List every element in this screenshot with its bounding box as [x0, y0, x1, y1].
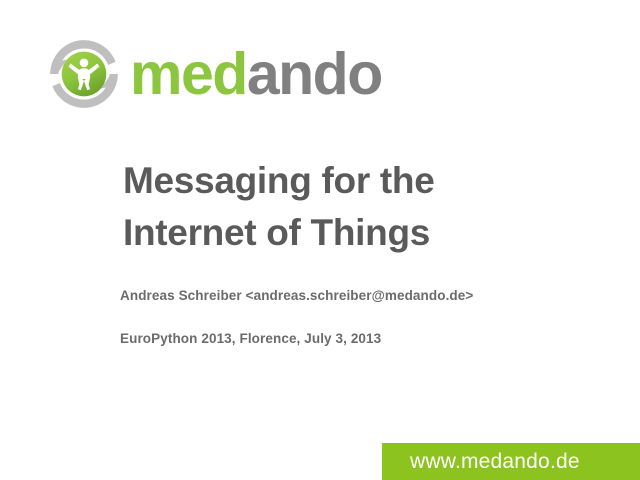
- slide-metadata: Andreas Schreiber <andreas.schreiber@med…: [120, 288, 600, 346]
- title-line-2: Internet of Things: [123, 207, 593, 259]
- footer-url-bar: www.medando.de: [382, 443, 640, 480]
- brand-lockup: medando: [48, 38, 382, 110]
- author-line: Andreas Schreiber <andreas.schreiber@med…: [120, 288, 600, 303]
- title-line-1: Messaging for the: [123, 155, 593, 207]
- medando-person-circle-arrows-icon: [48, 38, 120, 110]
- wordmark-med: med: [130, 41, 247, 107]
- wordmark-ando: ando: [247, 41, 382, 107]
- brand-wordmark: medando: [130, 45, 382, 104]
- footer-url-text: www.medando.de: [410, 450, 580, 474]
- title-slide: medando Messaging for the Internet of Th…: [0, 0, 640, 480]
- event-line: EuroPython 2013, Florence, July 3, 2013: [120, 331, 600, 346]
- page-title: Messaging for the Internet of Things: [123, 155, 593, 259]
